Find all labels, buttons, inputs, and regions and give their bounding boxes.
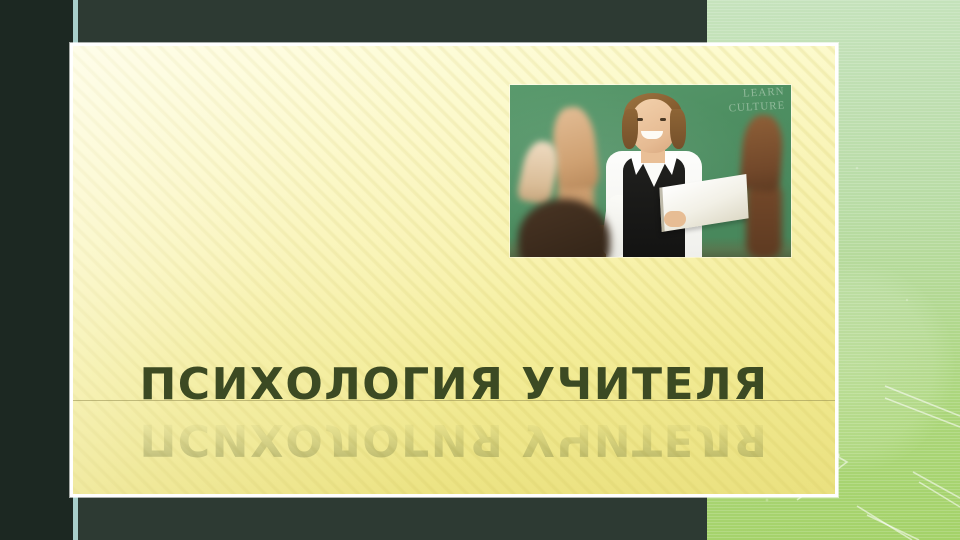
- teacher-eye-right: [660, 118, 666, 121]
- presentation-slide: LEARN CULTURE: [0, 0, 960, 540]
- teacher-hair-left: [622, 109, 638, 149]
- page-title-reflection: ПСИХОЛОГИЯ УЧИТЕЛЯ: [73, 412, 835, 466]
- title-block: ПСИХОЛОГИЯ УЧИТЕЛЯ ПСИХОЛОГИЯ УЧИТЕЛЯ: [73, 352, 835, 462]
- teacher-hand: [664, 211, 686, 227]
- background-left-dark-band: [0, 0, 73, 540]
- teacher-hair-right: [670, 109, 686, 149]
- page-title: ПСИХОЛОГИЯ УЧИТЕЛЯ: [73, 358, 835, 412]
- student-arm-right: [746, 181, 782, 257]
- teacher-classroom-photo: LEARN CULTURE: [510, 85, 791, 257]
- teacher-eye-left: [637, 118, 643, 121]
- chalkboard-text: LEARN CULTURE: [688, 85, 785, 117]
